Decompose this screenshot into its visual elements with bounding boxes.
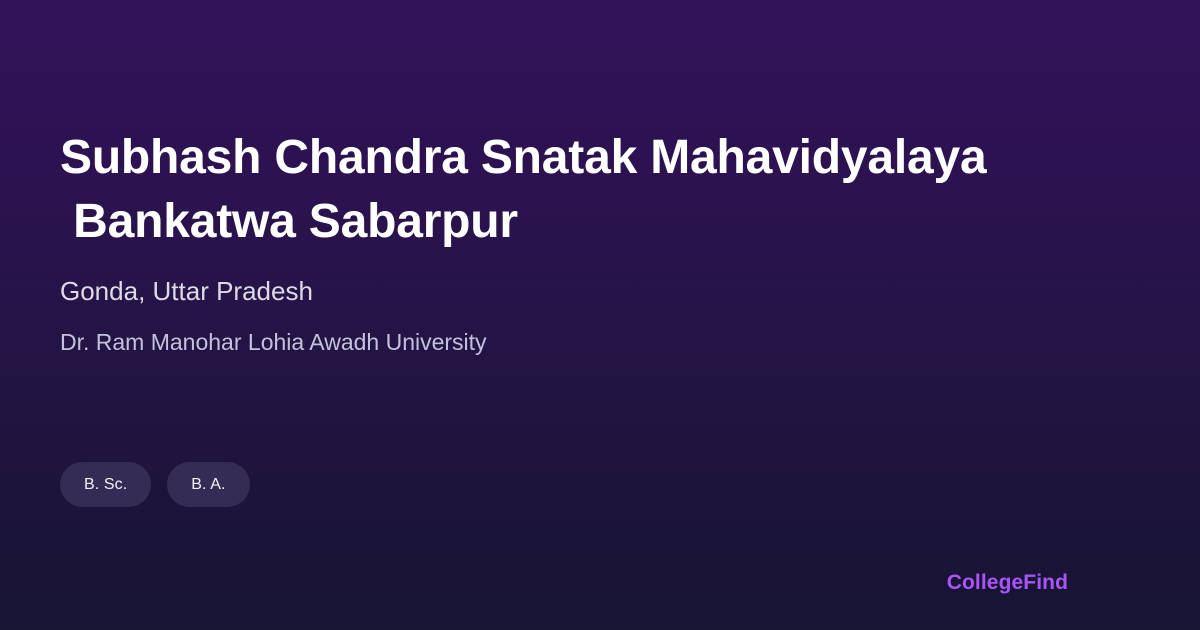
degree-chip: B. A. bbox=[167, 462, 249, 507]
college-location: Gonda, Uttar Pradesh bbox=[60, 274, 313, 308]
degree-chip: B. Sc. bbox=[60, 462, 151, 507]
college-name-title: Subhash Chandra Snatak Mahavidyalaya Ban… bbox=[60, 126, 1140, 254]
college-share-card: Subhash Chandra Snatak Mahavidyalaya Ban… bbox=[0, 0, 1200, 630]
card-content: Subhash Chandra Snatak Mahavidyalaya Ban… bbox=[0, 0, 1200, 630]
brand-logo-text: CollegeFind bbox=[947, 569, 1068, 596]
degree-chip-list: B. Sc. B. A. bbox=[60, 462, 250, 507]
affiliated-university: Dr. Ram Manohar Lohia Awadh University bbox=[60, 327, 487, 357]
